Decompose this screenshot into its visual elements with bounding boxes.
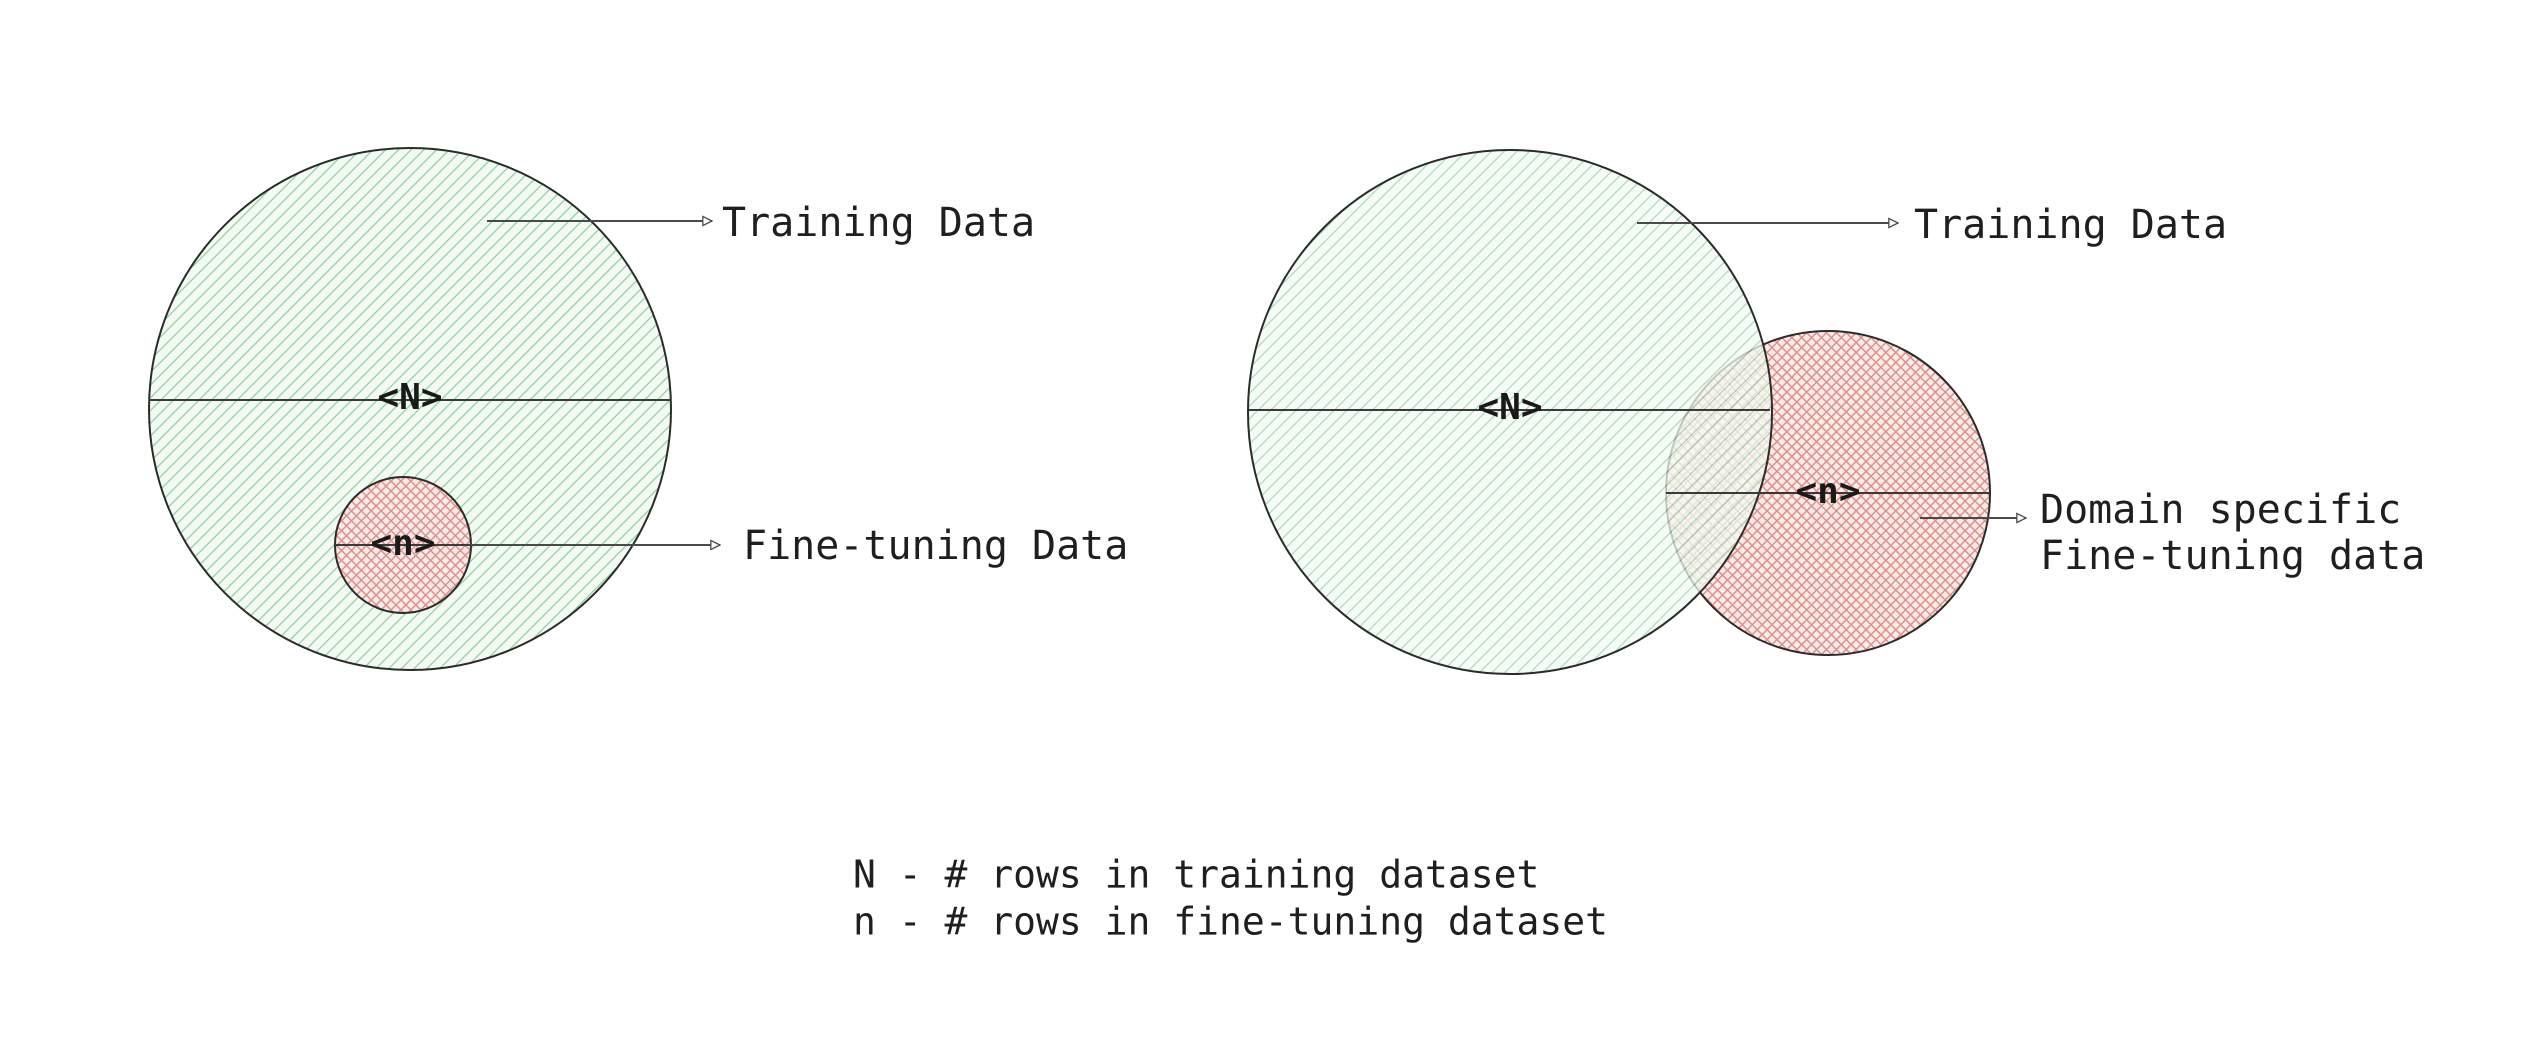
training-data-label-overlap: Training Data — [1914, 202, 2227, 248]
finetune-data-label-overlap-line1: Domain specific — [2040, 487, 2401, 533]
finetune-data-label-overlap-line2: Fine-tuning data — [2040, 533, 2425, 579]
finetune-size-marker-overlap: <n> — [1795, 471, 1860, 512]
finetune-data-label-subset: Fine-tuning Data — [743, 523, 1128, 569]
training-size-marker-overlap: <N> — [1477, 387, 1542, 428]
diagram-canvas: <N> <n> Training Data Fine-tuning Data <… — [0, 0, 2522, 1054]
training-size-marker-subset: <N> — [377, 377, 442, 418]
finetune-size-marker-subset: <n> — [370, 523, 435, 564]
training-data-label-subset: Training Data — [722, 200, 1035, 246]
venn-diagram-figure: <N> <n> Training Data Fine-tuning Data <… — [0, 0, 2522, 1054]
legend-line-n: n - # rows in fine-tuning dataset — [853, 900, 1608, 944]
legend-line-N: N - # rows in training dataset — [853, 853, 1539, 897]
